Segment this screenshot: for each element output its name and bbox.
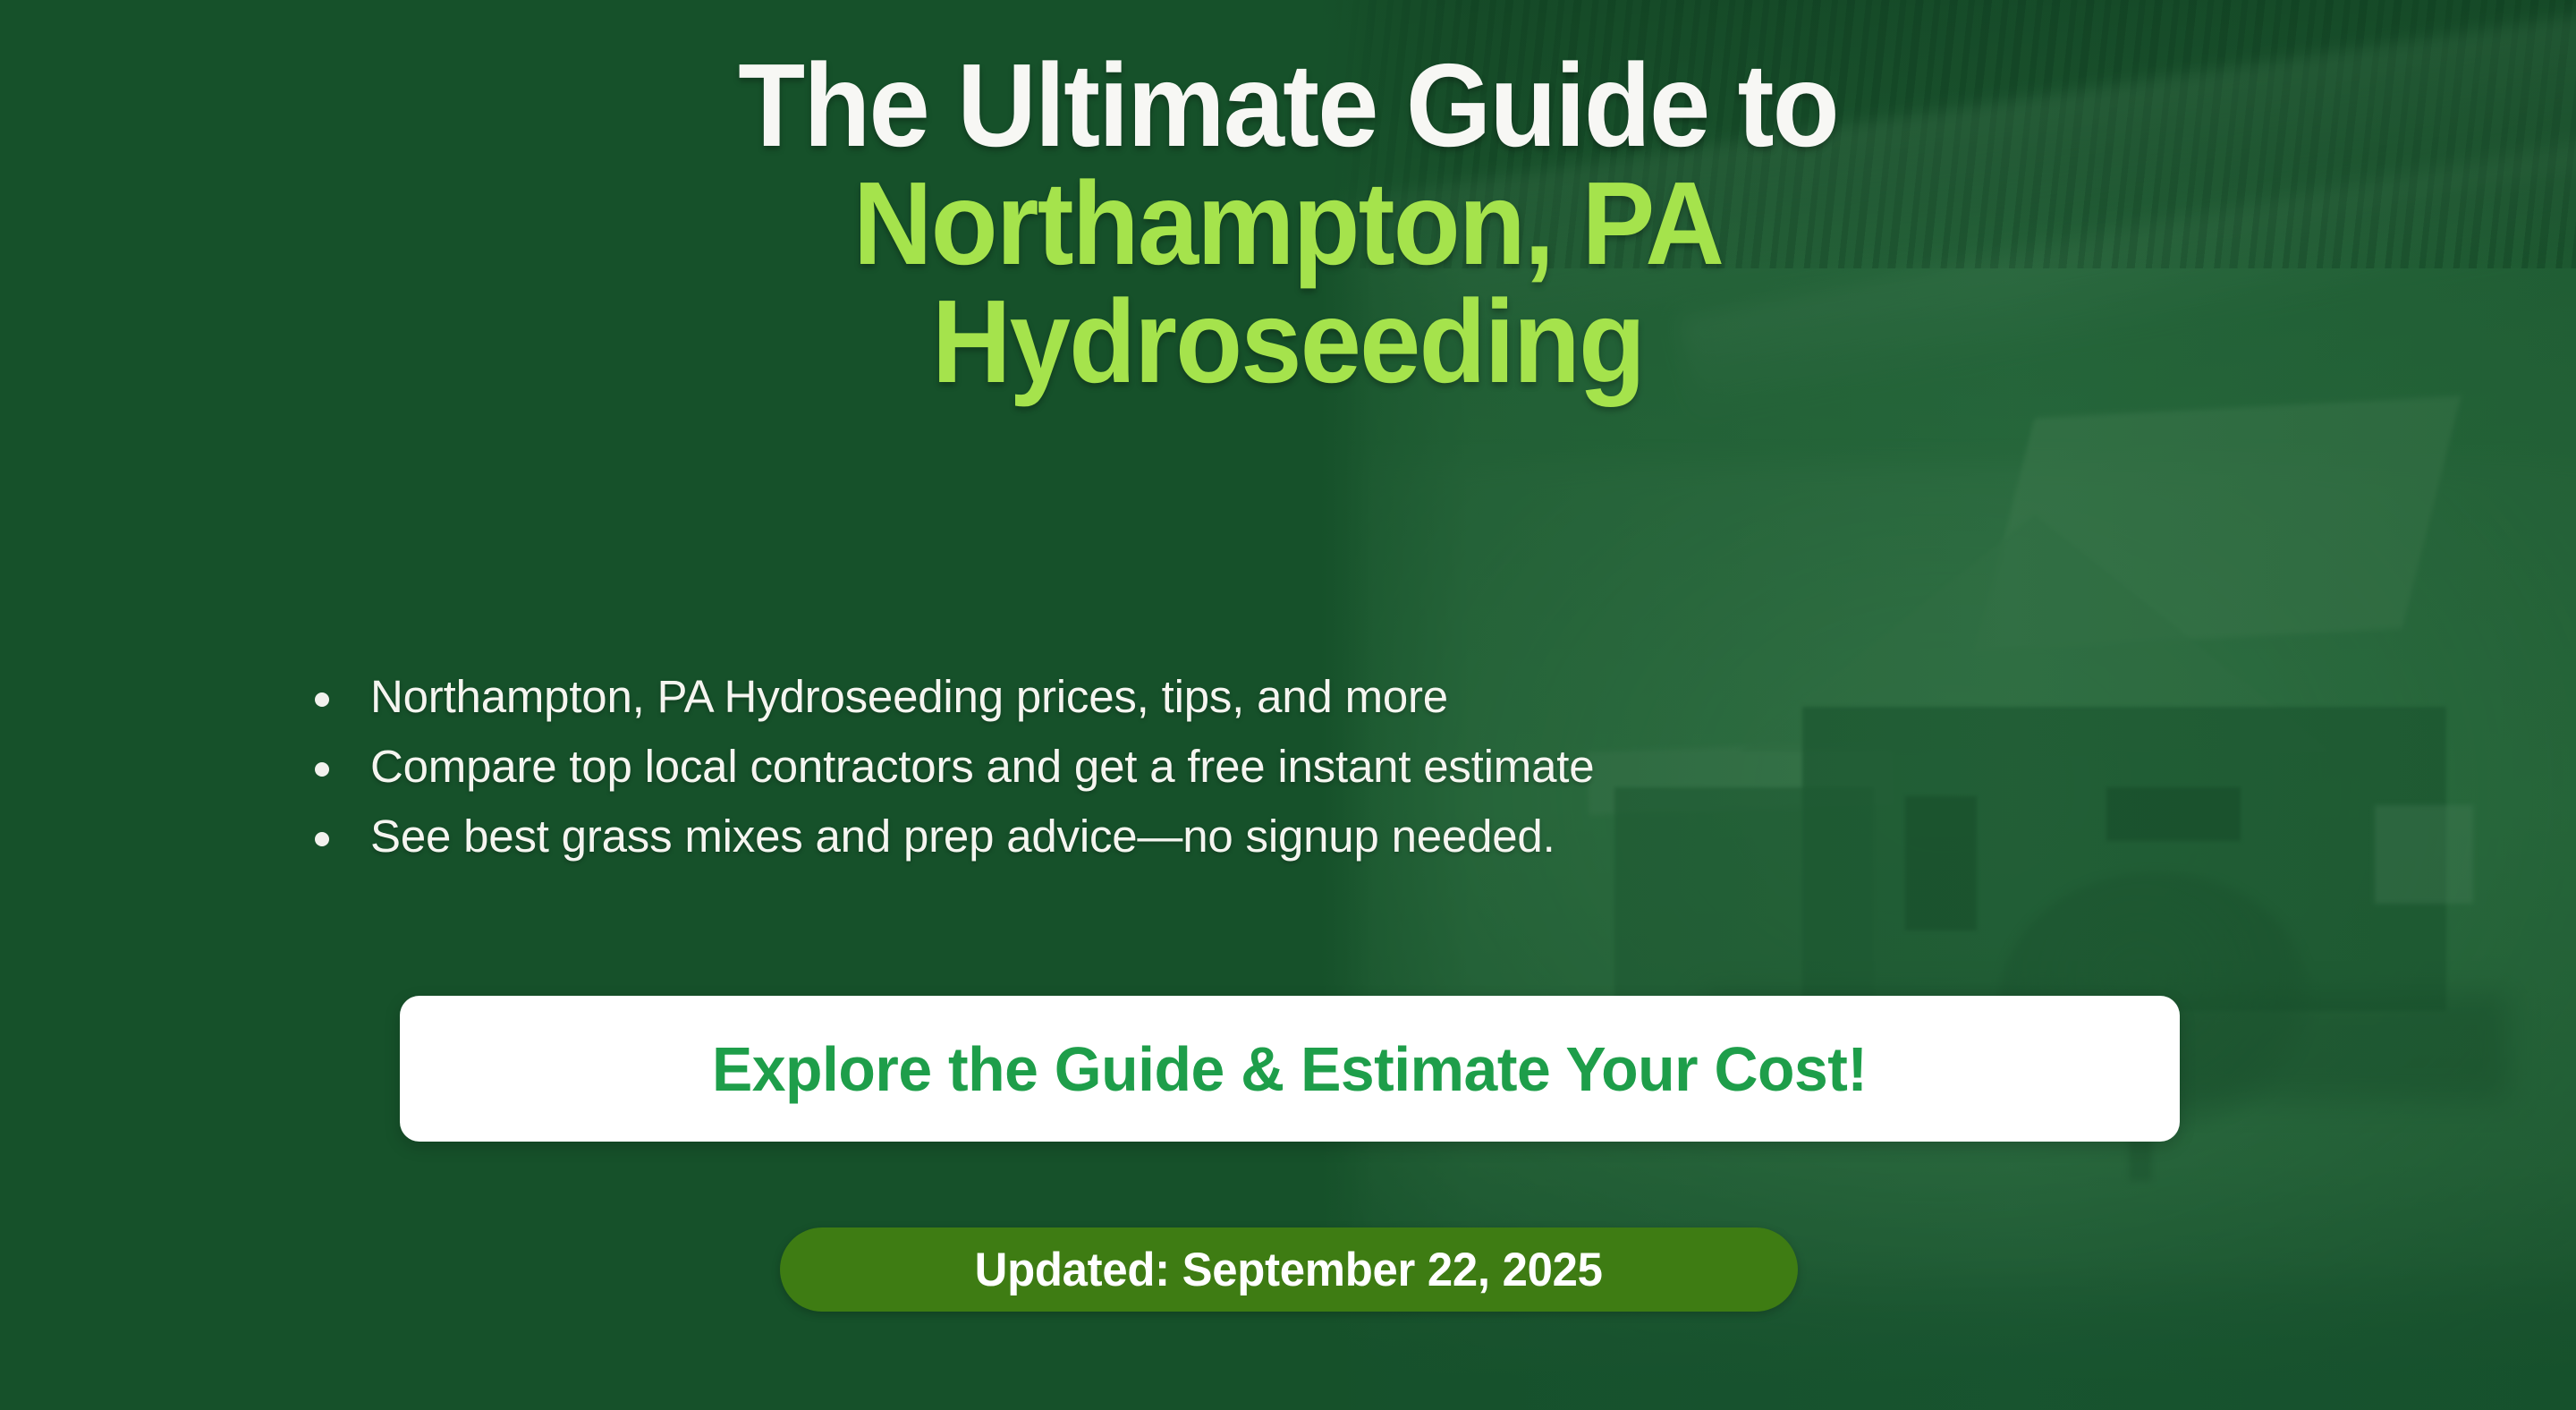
- title-line-location: Northampton, PA: [190, 165, 2385, 283]
- bullet-dot-icon: [315, 692, 329, 707]
- last-updated-badge: Updated: September 22, 2025: [780, 1227, 1798, 1312]
- banner-content: The Ultimate Guide to Northampton, PA Hy…: [0, 0, 2576, 1410]
- list-item: Compare top local contractors and get a …: [315, 741, 2283, 793]
- page-title: The Ultimate Guide to Northampton, PA Hy…: [0, 47, 2576, 401]
- hero-banner: The Ultimate Guide to Northampton, PA Hy…: [0, 0, 2576, 1410]
- list-item-label: See best grass mixes and prep advice—no …: [370, 811, 1555, 862]
- cta-button-label: Explore the Guide & Estimate Your Cost!: [712, 1033, 1868, 1105]
- bullet-dot-icon: [315, 832, 329, 846]
- list-item-label: Compare top local contractors and get a …: [370, 741, 1594, 793]
- list-item: See best grass mixes and prep advice—no …: [315, 811, 2283, 862]
- title-line-service: Hydroseeding: [190, 283, 2385, 401]
- explore-guide-cta-button[interactable]: Explore the Guide & Estimate Your Cost!: [400, 996, 2180, 1142]
- bullet-dot-icon: [315, 762, 329, 777]
- title-line-primary: The Ultimate Guide to: [190, 47, 2385, 165]
- list-item: Northampton, PA Hydroseeding prices, tip…: [315, 671, 2283, 723]
- feature-bullet-list: Northampton, PA Hydroseeding prices, tip…: [315, 671, 2283, 880]
- last-updated-label: Updated: September 22, 2025: [975, 1243, 1603, 1297]
- list-item-label: Northampton, PA Hydroseeding prices, tip…: [370, 671, 1448, 723]
